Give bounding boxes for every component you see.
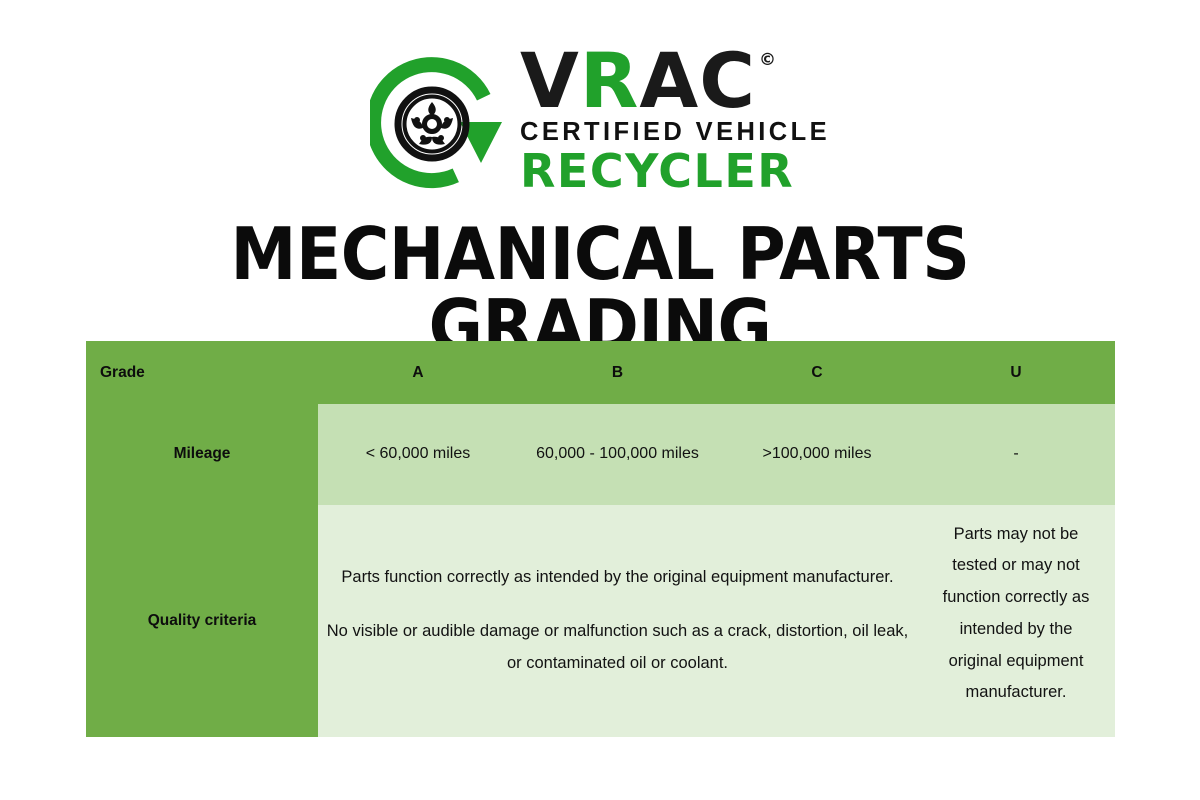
quality-paragraph-1: Parts function correctly as intended by … bbox=[318, 562, 917, 594]
cell-quality-criteria-u: Parts may not be tested or may not funct… bbox=[917, 505, 1115, 737]
column-header-c: C bbox=[717, 341, 917, 404]
brand-letter-a: A bbox=[639, 46, 699, 116]
quality-paragraph-2: No visible or audible damage or malfunct… bbox=[318, 616, 917, 679]
brand-letter-v: V bbox=[520, 46, 580, 116]
quality-paragraph-u: Parts may not be tested or may not funct… bbox=[933, 519, 1099, 709]
table-row-quality-criteria: Quality criteria Parts function correctl… bbox=[86, 505, 1115, 737]
vrac-logo: VRAC© CERTIFIED VEHICLE RECYCLER bbox=[0, 46, 1200, 195]
recycling-wheel-icon bbox=[370, 50, 520, 190]
brand-letter-r: R bbox=[580, 46, 640, 116]
brand-name: VRAC© bbox=[520, 46, 777, 116]
brand-tagline: CERTIFIED VEHICLE bbox=[520, 118, 830, 147]
brand-subtitle: RECYCLER bbox=[520, 148, 794, 195]
column-header-grade: Grade bbox=[86, 341, 318, 404]
cell-mileage-c: >100,000 miles bbox=[717, 404, 917, 505]
logo-wordmark: VRAC© CERTIFIED VEHICLE RECYCLER bbox=[520, 46, 830, 195]
column-header-u: U bbox=[917, 341, 1115, 404]
grading-infographic-page: VRAC© CERTIFIED VEHICLE RECYCLER MECHANI… bbox=[0, 0, 1200, 800]
column-header-a: A bbox=[318, 341, 518, 404]
table-row-mileage: Mileage < 60,000 miles 60,000 - 100,000 … bbox=[86, 404, 1115, 505]
row-label-quality-criteria: Quality criteria bbox=[86, 505, 318, 737]
row-label-mileage: Mileage bbox=[86, 404, 318, 505]
mechanical-parts-grading-table: Grade A B C U Mileage < 60,000 miles 60,… bbox=[86, 341, 1115, 737]
table-header-row: Grade A B C U bbox=[86, 341, 1115, 404]
copyright-mark: © bbox=[759, 52, 777, 69]
brand-letter-c: C bbox=[699, 46, 756, 116]
column-header-b: B bbox=[518, 341, 717, 404]
cell-mileage-a: < 60,000 miles bbox=[318, 404, 518, 505]
cell-mileage-u: - bbox=[917, 404, 1115, 505]
cell-quality-criteria-abc: Parts function correctly as intended by … bbox=[318, 505, 917, 737]
cell-mileage-b: 60,000 - 100,000 miles bbox=[518, 404, 717, 505]
